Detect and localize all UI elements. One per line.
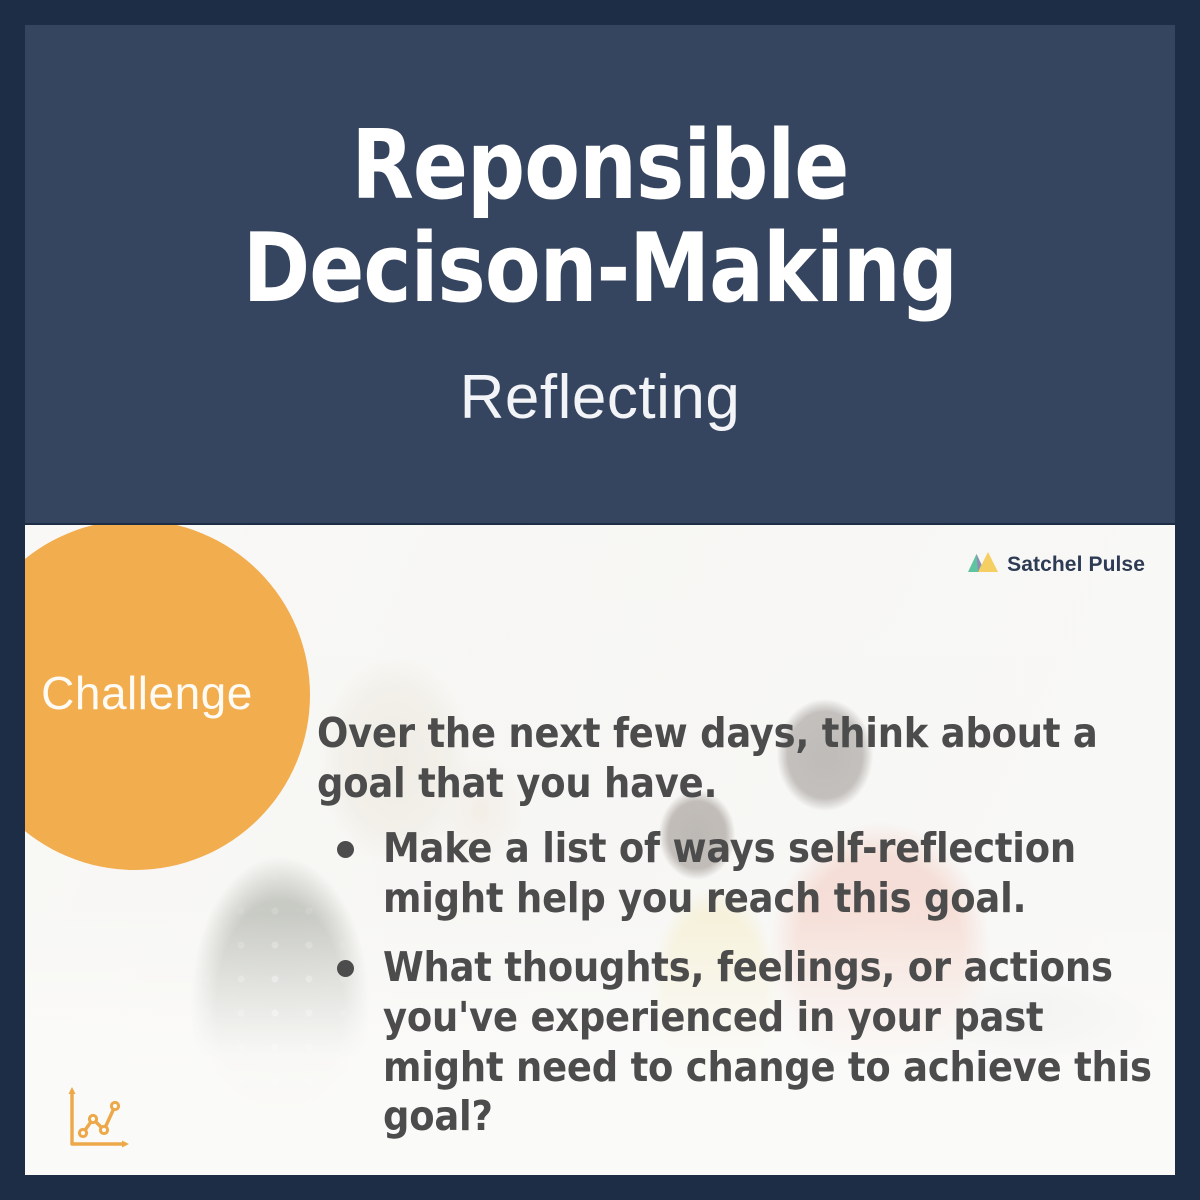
- challenge-bullet-text: What thoughts, feelings, or actions you'…: [383, 943, 1152, 1140]
- page-title-line-2: Decison-Making: [243, 214, 957, 324]
- page-title-line-1: Reponsible: [351, 111, 848, 221]
- brand-logo: Satchel Pulse: [968, 552, 1145, 578]
- mountains-icon: [968, 552, 998, 578]
- challenge-lead-text: Over the next few days, think about a go…: [317, 709, 1157, 808]
- bullet-dot-icon: [337, 960, 354, 977]
- challenge-bullet-item: Make a list of ways self-reflection migh…: [317, 824, 1157, 923]
- brand-name: Satchel Pulse: [1007, 553, 1145, 577]
- line-chart-icon: [59, 1083, 133, 1157]
- challenge-badge-label: Challenge: [41, 666, 253, 720]
- challenge-bullet-item: What thoughts, feelings, or actions you'…: [317, 943, 1157, 1141]
- page-subtitle: Reflecting: [460, 364, 741, 432]
- challenge-bullet-text: Make a list of ways self-reflection migh…: [383, 824, 1076, 922]
- challenge-body: Over the next few days, think about a go…: [317, 709, 1157, 1162]
- content-card: Challenge Satchel Pulse Over the next fe…: [25, 525, 1175, 1175]
- poster-frame: Reponsible Decison-Making Reflecting Cha…: [0, 0, 1200, 1200]
- challenge-bullet-list: Make a list of ways self-reflection migh…: [317, 824, 1157, 1142]
- page-title: Reponsible Decison-Making: [243, 115, 957, 320]
- header-panel: Reponsible Decison-Making Reflecting: [25, 25, 1175, 523]
- bullet-dot-icon: [337, 841, 354, 858]
